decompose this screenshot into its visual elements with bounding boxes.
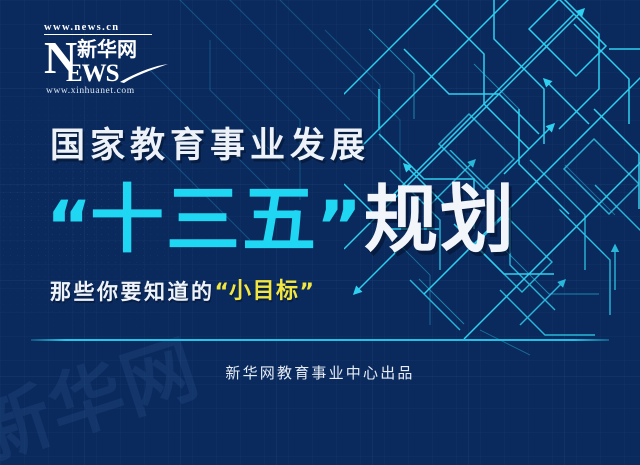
cyan-divider [31,339,609,341]
logo-news-word: EWS [66,61,119,86]
logo-brand-cn: 新华网 [77,39,137,60]
quote-open: “ [46,192,92,262]
subtitle-quote-close: ” [299,280,313,305]
headline-tail: 规划 [364,181,516,259]
logo-mark: N 新华网 EWS [44,37,168,85]
swoosh-icon [118,63,170,83]
xinhua-logo[interactable]: www.news.cn N 新华网 EWS www.xinhuanet.com [44,22,168,96]
headline-highlight: 十三五 [90,181,318,259]
subtitle-highlight: 小目标 [229,279,300,305]
logo-bottom-url: www.xinhuanet.com [46,86,168,96]
headline-line-1: 国家教育事业发展 [50,126,370,166]
poster-canvas: 新华网 [0,0,640,465]
footer-credit: 新华网教育事业中心出品 [0,362,640,383]
network-pattern-top-right [344,0,640,344]
subtitle-prefix: 那些你要知道的 [50,279,215,305]
subtitle-quote-open: “ [215,280,229,305]
headline-line-3: 那些你要知道的 “ 小目标 ” [50,279,314,305]
headline-line-2: “ 十三五 ” 规划 [46,181,516,265]
watermark-text: 新华网 [0,309,211,465]
quote-close: ” [316,192,362,262]
